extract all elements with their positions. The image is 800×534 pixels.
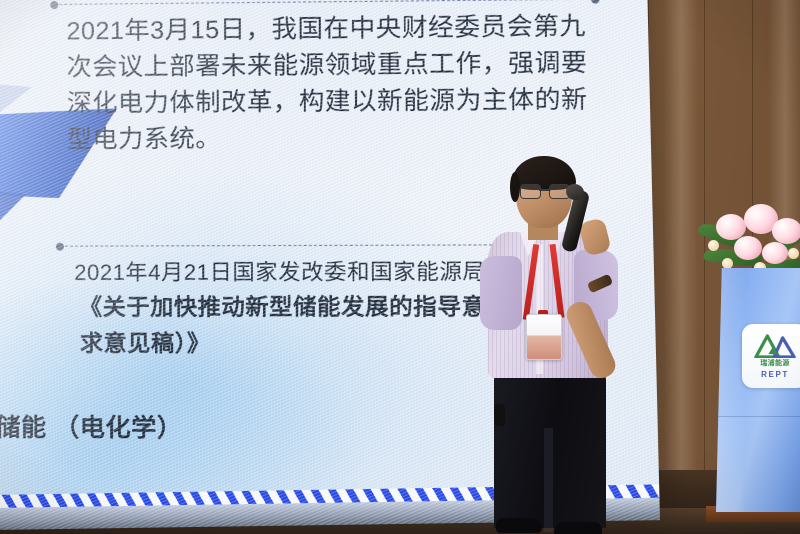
slide-body-line: 型电力系统。 bbox=[67, 118, 598, 158]
trouser-leg-separation bbox=[544, 428, 553, 532]
slide-body-line: 2021年3月15日，我国在中央财经委员会第九 bbox=[66, 8, 597, 50]
flower-bud bbox=[788, 248, 799, 259]
podium-logo-plate: 瑞浦能源 REPT bbox=[742, 324, 800, 388]
eyeglasses-icon bbox=[520, 184, 570, 197]
podium-logo-latin: REPT bbox=[761, 370, 789, 379]
lily-blossom bbox=[762, 242, 788, 264]
conference-photo: 构建以新能源为主体的新型电力系统” 2021年3月15日，我国在中央财经委员会第… bbox=[0, 0, 800, 534]
presentation-clicker bbox=[494, 404, 505, 426]
speaker-name-badge bbox=[526, 314, 562, 360]
wall-highlight bbox=[664, 0, 698, 534]
divider-dot-left bbox=[56, 242, 64, 250]
lily-blossom bbox=[734, 236, 762, 260]
podium-logo-chinese: 瑞浦能源 bbox=[760, 360, 790, 368]
podium bbox=[716, 268, 800, 512]
divider-dot-right bbox=[591, 0, 599, 3]
flower-bud bbox=[708, 240, 719, 251]
speaker-sleeve-left bbox=[480, 256, 522, 330]
mountain-peaks-icon bbox=[754, 334, 796, 358]
slide-body-line: 深化电力体制改革，构建以新能源为主体的新 bbox=[67, 81, 598, 121]
lily-blossom bbox=[772, 218, 800, 244]
slide-footer-label: 储能 （电化学） bbox=[0, 408, 183, 445]
slide-body-text: 2021年3月15日，我国在中央财经委员会第九 次会议上部署未来能源领域重点工作… bbox=[66, 8, 598, 158]
slide-body-line: 次会议上部署未来能源领域重点工作，强调要 bbox=[67, 45, 598, 86]
flower-bud bbox=[722, 258, 733, 269]
speaker bbox=[470, 160, 660, 534]
podium-seam bbox=[716, 416, 800, 417]
speaker-shoe-left bbox=[496, 518, 542, 533]
speaker-hair-side bbox=[510, 172, 520, 202]
speaker-shoe-right bbox=[554, 522, 602, 534]
